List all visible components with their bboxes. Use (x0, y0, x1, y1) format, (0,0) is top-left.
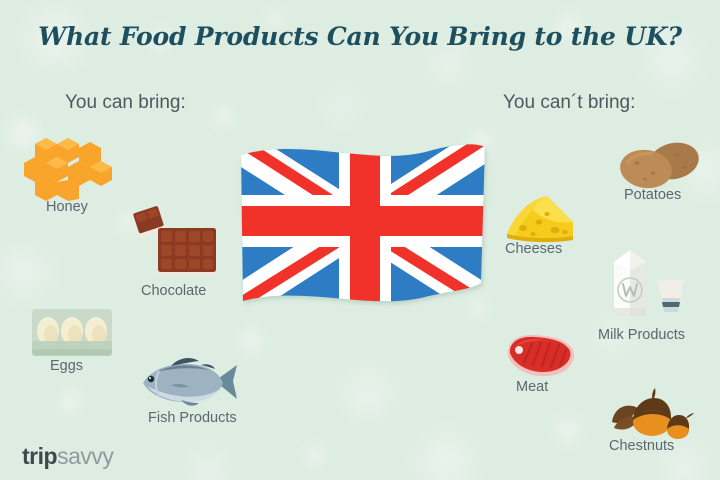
item-label-honey: Honey (46, 199, 88, 215)
item-label-milk-products: Milk Products (598, 327, 685, 343)
item-label-cheeses: Cheeses (505, 241, 562, 257)
item-label-chestnuts: Chestnuts (609, 438, 674, 454)
milk-carton-icon (606, 246, 686, 323)
item-label-meat: Meat (516, 379, 548, 395)
infographic-canvas: What Food Products Can You Bring to the … (0, 0, 720, 480)
tripsavvy-logo[interactable]: tripsavvy (22, 443, 113, 470)
item-label-eggs: Eggs (50, 358, 83, 374)
bokeh-dot (0, 248, 46, 294)
bokeh-dot (556, 418, 580, 442)
bokeh-dot (420, 436, 472, 480)
logo-secondary-text: savvy (57, 443, 113, 469)
bokeh-dot (214, 108, 232, 126)
logo-primary-text: trip (22, 443, 57, 469)
bokeh-dot (60, 392, 80, 412)
honeycomb-icon (24, 136, 122, 207)
bokeh-dot (306, 446, 324, 464)
forbidden-column-heading: You can´t bring: (503, 92, 635, 114)
bokeh-dot (190, 452, 226, 480)
item-label-fish-products: Fish Products (148, 410, 237, 426)
bokeh-dot (346, 372, 390, 416)
item-label-chocolate: Chocolate (141, 283, 206, 299)
item-label-potatoes: Potatoes (624, 187, 681, 203)
bokeh-dot (240, 330, 262, 352)
allowed-column-heading: You can bring: (65, 92, 186, 114)
chocolate-bar-icon (133, 206, 219, 285)
page-title: What Food Products Can You Bring to the … (0, 22, 720, 51)
bokeh-dot (432, 46, 466, 80)
uk-flag-icon (233, 133, 491, 323)
bokeh-dot (330, 92, 356, 118)
fish-icon (137, 357, 241, 414)
